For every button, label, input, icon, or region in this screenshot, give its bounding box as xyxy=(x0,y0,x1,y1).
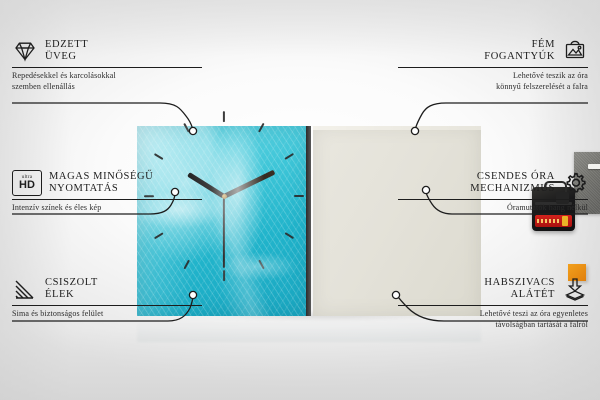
callout-high-quality-print[interactable]: ultra HD MAGAS MINŐSÉGŰ NYOMTATÁS Intenz… xyxy=(12,170,202,214)
clock-tick xyxy=(258,122,265,132)
callout-rule xyxy=(12,305,202,306)
back-panel-top-edge xyxy=(313,126,481,130)
callout-rule xyxy=(398,67,588,68)
clock-tick xyxy=(284,153,294,160)
clock-tick xyxy=(183,122,190,132)
callout-title-line2: ALÁTÉT xyxy=(398,289,555,301)
hanging-picture-frame-icon xyxy=(562,38,588,64)
hatch-lines-icon xyxy=(12,276,38,302)
callout-subtitle-line1: Lehetővé teszi az óra egyenletes xyxy=(398,309,588,320)
clock-hand xyxy=(223,169,276,198)
callout-polished-edges[interactable]: CSISZOLT ÉLEK Sima és biztonságos felüle… xyxy=(12,276,202,320)
battery-terminal xyxy=(562,216,568,226)
callout-subtitle-line2: távolságban tartását a falról xyxy=(398,320,588,331)
callout-title-line2: FOGANTYÚK xyxy=(398,51,555,63)
callout-title-line1: EDZETT xyxy=(45,39,88,51)
callout-title-line1: CSISZOLT xyxy=(45,277,98,289)
callout-subtitle-line1: Sima és biztonságos felület xyxy=(12,309,202,320)
clock-tick xyxy=(154,153,164,160)
hanger-slot xyxy=(588,164,600,169)
callout-rule xyxy=(12,199,202,200)
clock-hand xyxy=(223,196,225,268)
callout-title-line2: MECHANIZMUS xyxy=(398,183,555,195)
diamond-icon xyxy=(12,38,38,64)
callout-foam-pad[interactable]: HABSZIVACS ALÁTÉT Lehetővé teszi az óra … xyxy=(398,276,588,330)
callout-title-line2: ÉLEK xyxy=(45,289,98,301)
clock-tick xyxy=(154,232,164,239)
callout-title-line2: NYOMTATÁS xyxy=(49,183,153,195)
clock-tick xyxy=(223,270,225,281)
callout-title-line1: MAGAS MINŐSÉGŰ xyxy=(49,171,153,183)
clock-tick xyxy=(258,260,265,270)
callout-subtitle-line1: Óramutatók hang nélkül xyxy=(398,203,588,214)
callout-subtitle-line1: Intenzív színek és éles kép xyxy=(12,203,202,214)
clock-panel-edge xyxy=(306,126,311,316)
callout-header: CSENDES ÓRA MECHANIZMUS xyxy=(398,170,588,196)
clock-tick xyxy=(223,111,225,122)
callout-quiet-mechanism[interactable]: CSENDES ÓRA MECHANIZMUS Óramutatók hang … xyxy=(398,170,588,214)
clock-tick xyxy=(183,260,190,270)
callout-subtitle-line1: Lehetővé teszik az óra xyxy=(398,71,588,82)
ultra-hd-icon-main-label: HD xyxy=(19,180,35,191)
callout-rule xyxy=(398,199,588,200)
clock-tick xyxy=(284,232,294,239)
battery xyxy=(535,215,572,227)
callout-rule xyxy=(398,305,588,306)
callout-subtitle-line1: Repedésekkel és karcolásokkal xyxy=(12,71,202,82)
callout-title-line1: FÉM xyxy=(398,39,555,51)
clock-center-cap xyxy=(222,194,227,199)
callout-subtitle-line2: szemben ellenállás xyxy=(12,82,202,93)
ultra-hd-icon: ultra HD xyxy=(12,170,42,196)
clock-tick xyxy=(294,195,304,197)
callout-header: EDZETT ÜVEG xyxy=(12,38,202,64)
callout-header: HABSZIVACS ALÁTÉT xyxy=(398,276,588,302)
callout-subtitle-line2: könnyű felszerelését a falra xyxy=(398,82,588,93)
callout-title-line2: ÜVEG xyxy=(45,51,88,63)
callout-metal-handles[interactable]: FÉM FOGANTYÚK Lehetővé teszik az óra kön… xyxy=(398,38,588,92)
callout-rule xyxy=(12,67,202,68)
callout-title-line1: HABSZIVACS xyxy=(398,277,555,289)
callout-header: CSISZOLT ÉLEK xyxy=(12,276,202,302)
callout-tempered-glass[interactable]: EDZETT ÜVEG Repedésekkel és karcolásokka… xyxy=(12,38,202,92)
callout-header: FÉM FOGANTYÚK xyxy=(398,38,588,64)
callout-header: ultra HD MAGAS MINŐSÉGŰ NYOMTATÁS xyxy=(12,170,202,196)
gear-icon xyxy=(562,170,588,196)
arrow-onto-pad-icon xyxy=(562,276,588,302)
callout-title-line1: CSENDES ÓRA xyxy=(398,171,555,183)
